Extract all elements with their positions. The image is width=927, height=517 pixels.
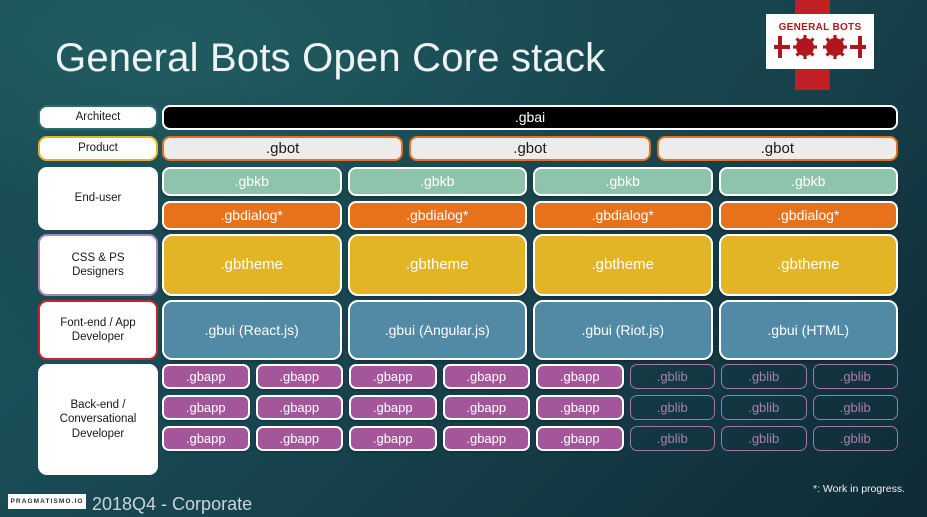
role-label-end-user[interactable]: End-user — [38, 167, 158, 230]
chip-label: .gblib — [657, 432, 688, 445]
role-label-line1: Font-end / App — [60, 316, 135, 330]
stack-cell-gbdialog[interactable]: .gbdialog* — [348, 201, 528, 230]
stack-cell-label: .gbdialog* — [221, 207, 283, 223]
work-in-progress-note: *: Work in progress. — [813, 483, 905, 495]
chip-label: .gbapp — [466, 370, 506, 383]
stack-cell-label: .gbkb — [606, 173, 640, 189]
stack-column: .gbai .gbot .gbot .gbot .gbkb — [162, 101, 898, 479]
stack-cell-label: .gbkb — [235, 173, 269, 189]
chip-gbapp[interactable]: .gbapp — [162, 364, 250, 389]
chip-gblib[interactable]: .gblib — [630, 426, 716, 451]
stack-cell-label: .gbtheme — [220, 256, 283, 273]
chip-label: .gbapp — [279, 401, 319, 414]
chip-gbapp[interactable]: .gbapp — [349, 426, 437, 451]
slide-header: General Bots Open Core stack GENERAL BOT… — [0, 0, 927, 96]
role-label-line2: Designers — [71, 265, 124, 279]
stack-cell-gbot[interactable]: .gbot — [657, 136, 898, 161]
stack-cell-gbdialog[interactable]: .gbdialog* — [533, 201, 713, 230]
chip-label: .gblib — [657, 401, 688, 414]
chip-label: .gbapp — [466, 401, 506, 414]
stack-cell-gbui-angular[interactable]: .gbui (Angular.js) — [348, 300, 528, 360]
role-label-text: Architect — [76, 110, 121, 124]
role-label-line1: CSS & PS — [71, 251, 124, 265]
stack-cell-gbui-react[interactable]: .gbui (React.js) — [162, 300, 342, 360]
stack-cell-gbui-html[interactable]: .gbui (HTML) — [719, 300, 899, 360]
chip-gblib[interactable]: .gblib — [630, 395, 716, 420]
chip-gbapp[interactable]: .gbapp — [443, 395, 531, 420]
stack-cell-label: .gbtheme — [777, 256, 840, 273]
role-label-text: End-user — [75, 191, 122, 205]
stack-cell-label: .gbot — [266, 140, 299, 157]
chip-label: .gbapp — [560, 370, 600, 383]
chip-label: .gbapp — [373, 432, 413, 445]
stack-cell-label: .gbdialog* — [406, 207, 468, 223]
stack-cell-label: .gbot — [513, 140, 546, 157]
chip-gblib[interactable]: .gblib — [721, 395, 807, 420]
general-bots-logo: GENERAL BOTS — [766, 14, 874, 69]
chip-label: .gblib — [840, 401, 871, 414]
stack-diagram: Architect Product End-user CSS & PS Desi… — [38, 101, 898, 479]
gbot-row: .gbot .gbot .gbot — [162, 136, 898, 161]
footer-note: 2018Q4 - Corporate — [92, 494, 252, 515]
stack-cell-label: .gbdialog* — [777, 207, 839, 223]
gbtheme-row: .gbtheme .gbtheme .gbtheme .gbtheme — [162, 234, 898, 296]
chip-gblib[interactable]: .gblib — [721, 426, 807, 451]
chip-gbapp[interactable]: .gbapp — [443, 364, 531, 389]
stack-cell-gbkb[interactable]: .gbkb — [533, 167, 713, 196]
chip-gbapp[interactable]: .gbapp — [536, 426, 624, 451]
chip-label: .gbapp — [560, 401, 600, 414]
stack-cell-gbtheme[interactable]: .gbtheme — [719, 234, 899, 296]
role-label-css-ps-designers[interactable]: CSS & PS Designers — [38, 234, 158, 296]
role-label-line2: Conversational — [60, 412, 137, 426]
role-label-line3: Developer — [60, 427, 137, 441]
chip-label: .gbapp — [186, 370, 226, 383]
chip-gbapp[interactable]: .gbapp — [349, 395, 437, 420]
chip-label: .gbapp — [373, 401, 413, 414]
stack-cell-label: .gbai — [515, 109, 545, 125]
chip-gblib[interactable]: .gblib — [721, 364, 807, 389]
stack-cell-gbdialog[interactable]: .gbdialog* — [719, 201, 899, 230]
chip-label: .gbapp — [279, 432, 319, 445]
chip-gbapp[interactable]: .gbapp — [256, 426, 344, 451]
stack-cell-gbot[interactable]: .gbot — [409, 136, 650, 161]
chip-label: .gbapp — [560, 432, 600, 445]
stack-cell-label: .gbui (Angular.js) — [385, 322, 490, 338]
gbkb-row: .gbkb .gbkb .gbkb .gbkb — [162, 167, 898, 196]
stack-cell-gbkb[interactable]: .gbkb — [719, 167, 899, 196]
slide-canvas: General Bots Open Core stack GENERAL BOT… — [0, 0, 927, 517]
chip-gbapp[interactable]: .gbapp — [443, 426, 531, 451]
chip-gblib[interactable]: .gblib — [813, 426, 899, 451]
stack-cell-gbdialog[interactable]: .gbdialog* — [162, 201, 342, 230]
stack-cell-label: .gbkb — [791, 173, 825, 189]
chip-gblib[interactable]: .gblib — [813, 395, 899, 420]
chip-label: .gbapp — [186, 401, 226, 414]
chip-label: .gbapp — [186, 432, 226, 445]
chip-label: .gblib — [840, 370, 871, 383]
chip-label: .gbapp — [373, 370, 413, 383]
stack-cell-label: .gbui (HTML) — [767, 322, 849, 338]
stack-cell-label: .gbkb — [420, 173, 454, 189]
stack-cell-label: .gbtheme — [591, 256, 654, 273]
stack-cell-gbai[interactable]: .gbai — [162, 105, 898, 130]
grid-row: .gbapp .gbapp .gbapp .gbapp .gbapp .gbli… — [162, 395, 898, 420]
chip-gbapp[interactable]: .gbapp — [536, 395, 624, 420]
chip-gbapp[interactable]: .gbapp — [256, 395, 344, 420]
gbapp-gblib-grid: .gbapp .gbapp .gbapp .gbapp .gbapp .gbli… — [162, 364, 898, 475]
chip-label: .gblib — [657, 370, 688, 383]
stack-cell-label: .gbui (Riot.js) — [582, 322, 664, 338]
chip-label: .gblib — [840, 432, 871, 445]
stack-cell-gbtheme[interactable]: .gbtheme — [162, 234, 342, 296]
stack-cell-gbkb[interactable]: .gbkb — [162, 167, 342, 196]
stack-cell-label: .gbot — [761, 140, 794, 157]
grid-row: .gbapp .gbapp .gbapp .gbapp .gbapp .gbli… — [162, 364, 898, 389]
role-label-product[interactable]: Product — [38, 136, 158, 161]
page-title: General Bots Open Core stack — [55, 36, 605, 81]
role-label-architect[interactable]: Architect — [38, 105, 158, 130]
chip-gbapp[interactable]: .gbapp — [162, 395, 250, 420]
grid-row: .gbapp .gbapp .gbapp .gbapp .gbapp .gbli… — [162, 426, 898, 451]
gears-logo-icon — [774, 34, 866, 60]
slide-footer: PRAGMATISMO.IO 2018Q4 - Corporate *: Wor… — [0, 479, 927, 517]
role-label-line2: Developer — [60, 330, 135, 344]
stack-cell-label: .gbtheme — [406, 256, 469, 273]
role-label-line1: Back-end / — [60, 398, 137, 412]
chip-gblib[interactable]: .gblib — [630, 364, 716, 389]
role-label-frontend-app-developer[interactable]: Font-end / App Developer — [38, 300, 158, 360]
chip-gbapp[interactable]: .gbapp — [349, 364, 437, 389]
chip-label: .gblib — [748, 401, 779, 414]
role-label-column: Architect Product End-user CSS & PS Desi… — [38, 101, 158, 479]
chip-label: .gblib — [748, 432, 779, 445]
chip-label: .gblib — [748, 370, 779, 383]
chip-label: .gbapp — [279, 370, 319, 383]
stack-cell-gbui-riot[interactable]: .gbui (Riot.js) — [533, 300, 713, 360]
gbai-row: .gbai — [162, 105, 898, 130]
role-label-backend-conversational-developer[interactable]: Back-end / Conversational Developer — [38, 364, 158, 475]
chip-label: .gbapp — [466, 432, 506, 445]
chip-gbapp[interactable]: .gbapp — [256, 364, 344, 389]
stack-cell-gbtheme[interactable]: .gbtheme — [348, 234, 528, 296]
stack-cell-gbkb[interactable]: .gbkb — [348, 167, 528, 196]
gbdialog-row: .gbdialog* .gbdialog* .gbdialog* .gbdial… — [162, 201, 898, 230]
chip-gbapp[interactable]: .gbapp — [536, 364, 624, 389]
stack-cell-label: .gbui (React.js) — [205, 322, 299, 338]
pragmatismo-logo: PRAGMATISMO.IO — [8, 494, 86, 509]
role-label-text: Product — [78, 141, 118, 155]
stack-cell-label: .gbdialog* — [592, 207, 654, 223]
chip-gbapp[interactable]: .gbapp — [162, 426, 250, 451]
logo-wordmark: GENERAL BOTS — [779, 23, 862, 33]
gbui-row: .gbui (React.js) .gbui (Angular.js) .gbu… — [162, 300, 898, 360]
stack-cell-gbot[interactable]: .gbot — [162, 136, 403, 161]
stack-cell-gbtheme[interactable]: .gbtheme — [533, 234, 713, 296]
chip-gblib[interactable]: .gblib — [813, 364, 899, 389]
